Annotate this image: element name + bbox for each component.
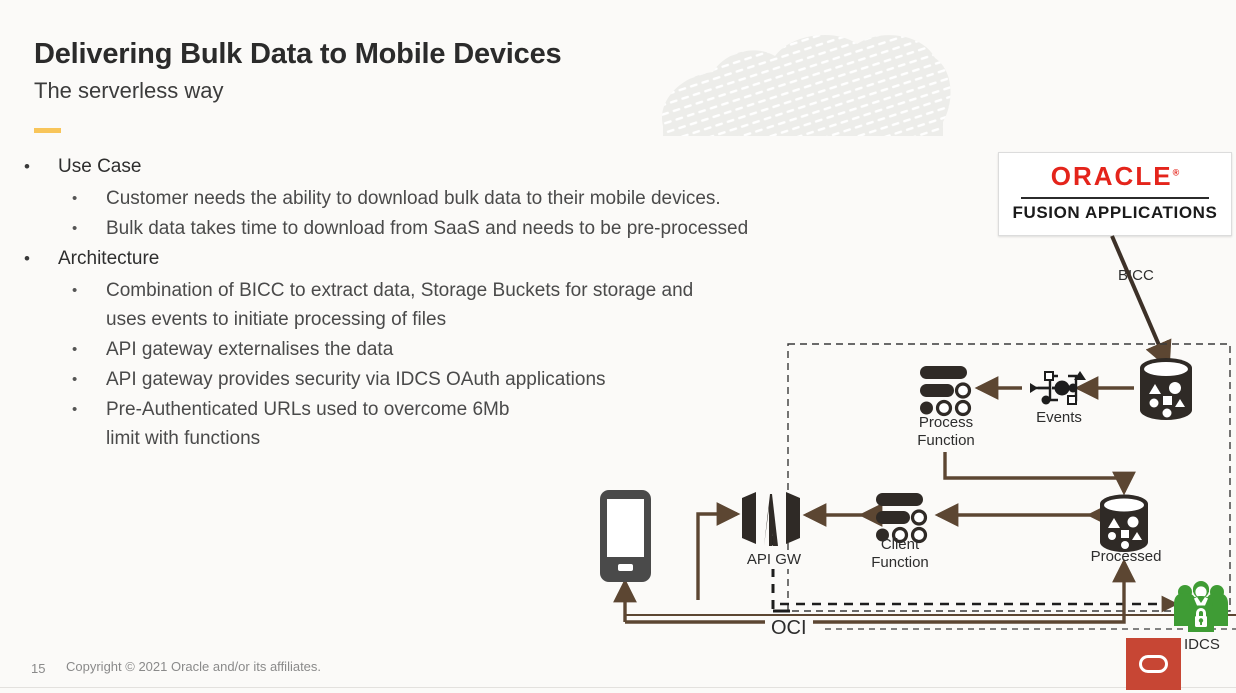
client-function-label: Client Function <box>854 536 946 572</box>
idcs-label: IDCS <box>1184 636 1220 653</box>
oracle-wordmark: ORACLE® <box>999 161 1231 192</box>
bullet-marker: • <box>22 244 58 274</box>
bicc-connector-label: BICC <box>1118 267 1154 284</box>
bullet-item: • API gateway provides security via IDCS… <box>22 365 942 394</box>
events-icon <box>1030 371 1086 405</box>
footer-divider <box>0 687 1236 688</box>
bullet-marker: • <box>22 152 58 182</box>
bullet-marker: • <box>72 184 106 213</box>
bullet-text: Use Case <box>58 152 141 182</box>
bullet-text: Bulk data takes time to download from Sa… <box>106 214 748 243</box>
bullet-item: • Use Case <box>22 152 942 182</box>
bullet-text: Architecture <box>58 244 159 274</box>
bullet-text: API gateway provides security via IDCS O… <box>106 365 606 394</box>
functions-icon <box>876 493 926 542</box>
bullet-item: • Customer needs the ability to download… <box>22 184 942 213</box>
bullet-item: • Pre-Authenticated URLs used to overcom… <box>22 395 942 453</box>
bullet-marker: • <box>72 365 106 394</box>
bullet-list: • Use Case • Customer needs the ability … <box>22 152 942 454</box>
bullet-text: Combination of BICC to extract data, Sto… <box>106 276 693 334</box>
bullet-text: Customer needs the ability to download b… <box>106 184 721 213</box>
slide-subtitle: The serverless way <box>34 78 224 104</box>
oracle-logo-mark <box>1126 638 1181 690</box>
bullet-marker: • <box>72 214 106 243</box>
bullet-text: Pre-Authenticated URLs used to overcome … <box>106 395 509 453</box>
bullet-item: • Combination of BICC to extract data, S… <box>22 276 942 334</box>
oracle-ring-icon <box>1139 655 1168 673</box>
registered-mark: ® <box>1173 167 1180 177</box>
cloud-texture-decoration <box>655 18 955 136</box>
oracle-fusion-applications-card: ORACLE® FUSION APPLICATIONS <box>998 152 1232 236</box>
storage-bucket-icon <box>1100 495 1148 553</box>
bullet-marker: • <box>72 276 106 305</box>
bullet-item: • Architecture <box>22 244 942 274</box>
oracle-wordmark-text: ORACLE <box>1051 161 1173 191</box>
mobile-phone-icon <box>600 490 651 582</box>
divider <box>1021 197 1209 199</box>
api-gateway-icon <box>742 492 800 546</box>
events-label: Events <box>1018 409 1100 427</box>
identity-users-lock-icon <box>1174 581 1228 632</box>
process-function-label: Process Function <box>900 414 992 450</box>
api-gw-label: API GW <box>736 550 812 569</box>
bullet-marker: • <box>72 395 106 424</box>
oci-boundary-label: OCI <box>765 617 813 640</box>
storage-bucket-icon <box>1140 358 1192 420</box>
fusion-applications-text: FUSION APPLICATIONS <box>999 203 1231 223</box>
slide: Delivering Bulk Data to Mobile Devices T… <box>0 0 1236 693</box>
bullet-item: • API gateway externalises the data <box>22 335 942 364</box>
slide-number: 15 <box>31 661 45 676</box>
accent-bar <box>34 128 61 133</box>
bullet-text: API gateway externalises the data <box>106 335 393 364</box>
copyright-text: Copyright © 2021 Oracle and/or its affil… <box>66 659 321 674</box>
processed-bucket-label: Processed <box>1078 548 1174 566</box>
bullet-item: • Bulk data takes time to download from … <box>22 214 942 243</box>
slide-title: Delivering Bulk Data to Mobile Devices <box>34 38 561 71</box>
bullet-marker: • <box>72 335 106 364</box>
